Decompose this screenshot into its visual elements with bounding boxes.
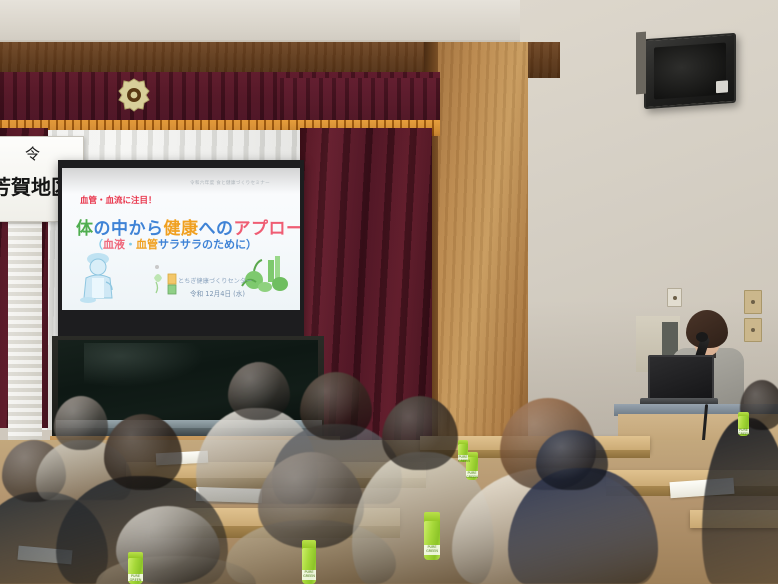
- slide-subtitle-part-1: （: [92, 238, 103, 251]
- attendee-navy-hood-head: [536, 430, 608, 490]
- attendee-left-grey-head: [54, 396, 108, 450]
- slide-illustration-middle-icon: [148, 262, 182, 296]
- speaker-bracket: [636, 32, 646, 95]
- tea-bottle-body: PUREGREEN: [302, 548, 316, 584]
- slide-subtitle-part-2: 血液: [103, 238, 125, 251]
- tea-bottle-label: PUREGREEN: [302, 570, 316, 579]
- tea-bottle-label: PUREGREEN: [458, 455, 468, 460]
- tea-bottle-label: PUREGREEN: [738, 429, 749, 434]
- slide-kicker-text: 血管・血流に注目！: [80, 194, 157, 206]
- tea-bottle-body: PUREGREEN: [128, 558, 143, 584]
- tea-bottle: PUREGREEN: [458, 440, 468, 462]
- tea-bottle: PUREGREEN: [424, 512, 440, 560]
- tea-bottle-label: PUREGREEN: [466, 471, 478, 477]
- lecture-hall-photo: 令 芳賀地区農 令和六年度 食と健康づくりセミナー 血管・血流に注目！ 体の中か…: [0, 0, 778, 584]
- tea-bottle-label: PUREGREEN: [128, 574, 143, 581]
- slide-illustration-vegetables-icon: [238, 254, 290, 294]
- tea-bottle-body: PUREGREEN: [738, 416, 749, 436]
- slide-title-part-1: 体: [76, 219, 94, 239]
- tea-bottle-body: PUREGREEN: [424, 521, 440, 560]
- microphone-head-icon: [696, 332, 708, 342]
- slide-header-small-text: 令和六年度 食と健康づくりセミナー: [190, 180, 270, 186]
- tea-bottle-label-line2: GREEN: [466, 475, 478, 479]
- ceiling-speaker-icon: [644, 33, 736, 109]
- tea-bottle-label-line2: GREEN: [302, 574, 316, 578]
- tea-bottle-body: PUREGREEN: [458, 444, 468, 462]
- slide-date: 令和 12月4日 (水): [190, 288, 245, 298]
- tea-bottle-label-line2: GREEN: [738, 433, 749, 437]
- tea-bottle-label: PUREGREEN: [424, 545, 440, 555]
- tea-bottle: PUREGREEN: [738, 412, 749, 436]
- tea-bottle: PUREGREEN: [128, 552, 143, 584]
- slide-subtitle: （血液・血管サラサラのために）: [92, 236, 257, 252]
- slide-organization: とちぎ健康づくりセンター: [178, 276, 252, 285]
- slide-subtitle-part-3: ・: [125, 238, 136, 251]
- attendee-striped-head: [228, 362, 290, 420]
- slide-subtitle-part-4: 血管: [136, 238, 158, 251]
- tea-bottle-label-line2: GREEN: [458, 459, 468, 463]
- stage-crest-emblem-icon: [118, 78, 150, 112]
- slide-illustration-person-icon: [78, 252, 118, 304]
- wall-outlet-lower[interactable]: [744, 318, 762, 342]
- wall-switch[interactable]: [667, 288, 682, 307]
- projection-screen: 令和六年度 食と健康づくりセミナー 血管・血流に注目！ 体の中から健康へのアプロ…: [62, 168, 300, 310]
- tea-bottle-label-line2: GREEN: [424, 549, 440, 553]
- wall-outlet-upper[interactable]: [744, 290, 762, 314]
- slide-subtitle-part-5: サラサラのために）: [158, 238, 257, 251]
- tea-bottle-label-line2: GREEN: [128, 578, 143, 582]
- tea-bottle: PUREGREEN: [302, 540, 316, 584]
